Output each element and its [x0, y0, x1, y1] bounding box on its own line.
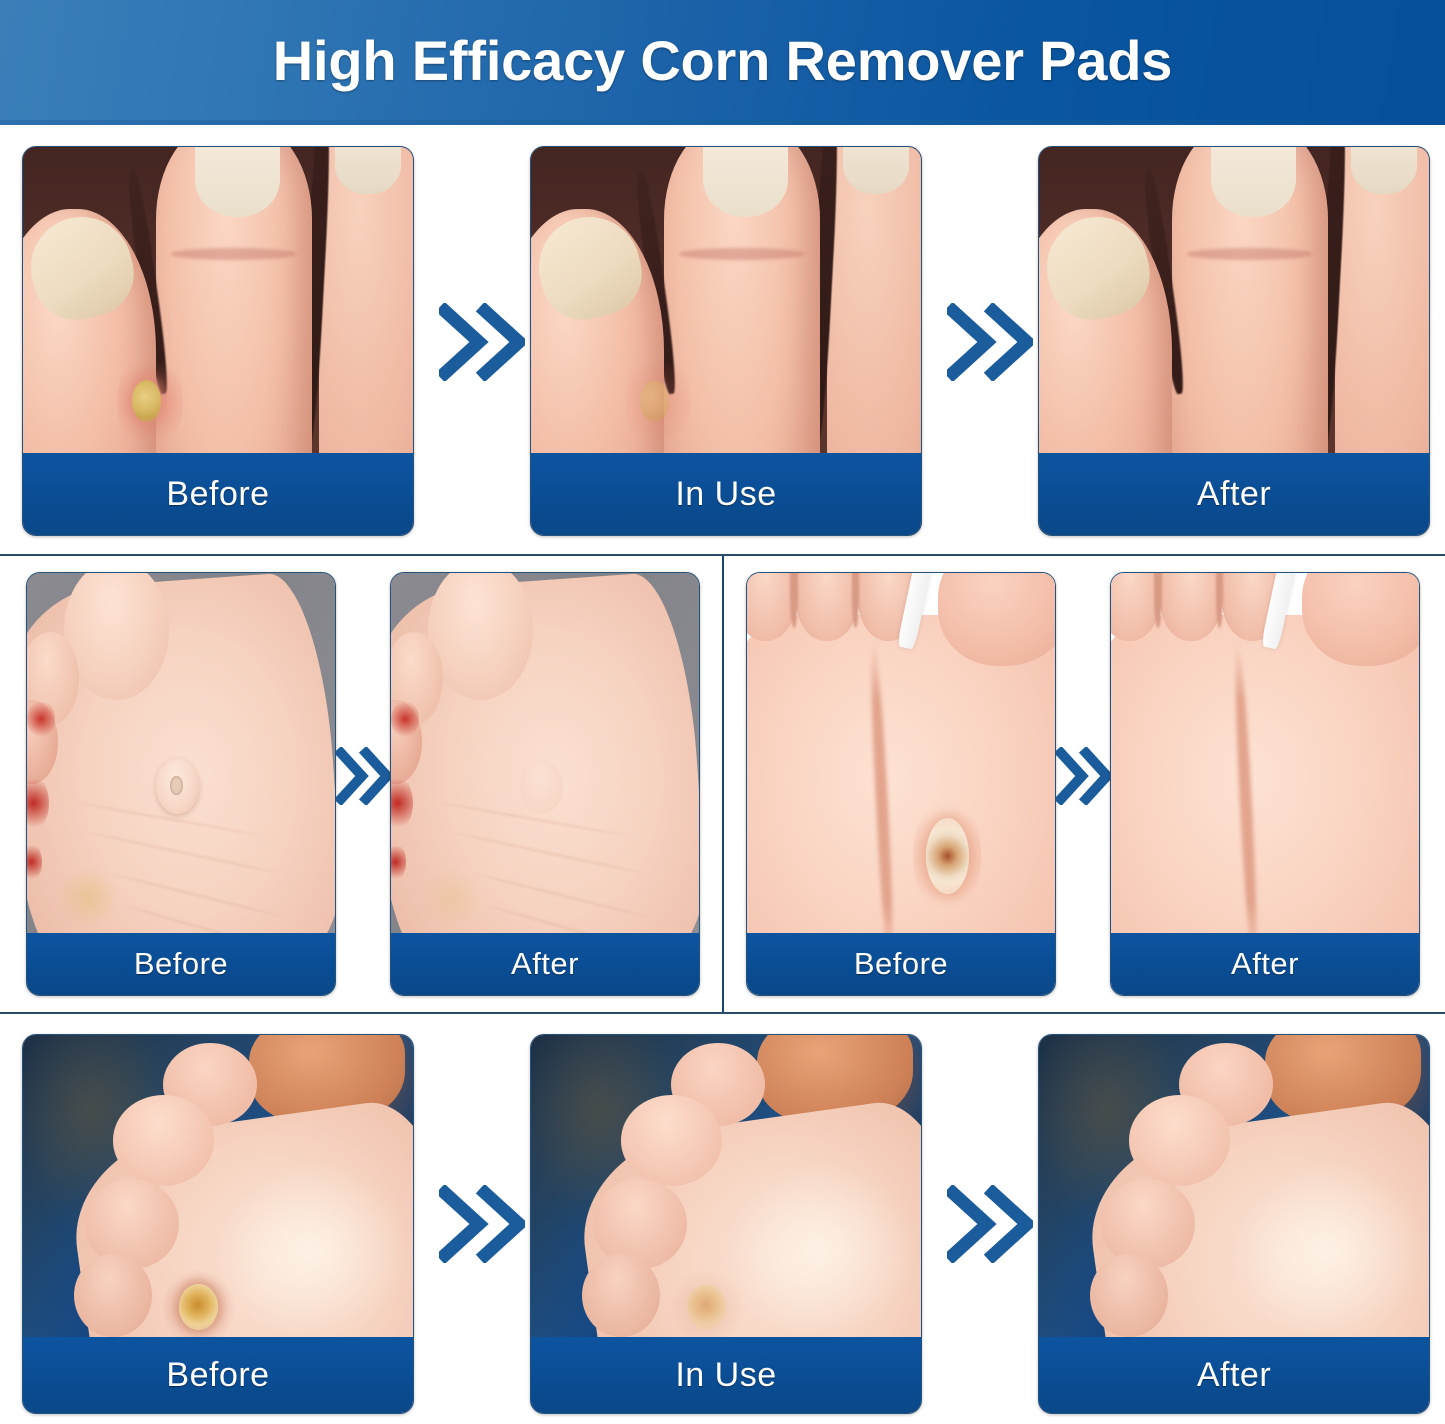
- row1-panel-inuse: In Use: [530, 146, 922, 536]
- row1-label-after: After: [1039, 453, 1429, 535]
- row2-right-photo-after: [1111, 573, 1419, 995]
- row2-right-arrow: [1056, 736, 1112, 816]
- row1-arrow-1: [438, 296, 526, 388]
- page-title: High Efficacy Corn Remover Pads: [273, 28, 1172, 93]
- row2-right-photo-before: [747, 573, 1055, 995]
- row3-label-inuse: In Use: [531, 1337, 921, 1413]
- row1-label-inuse: In Use: [531, 453, 921, 535]
- row3-label-after: After: [1039, 1337, 1429, 1413]
- row3-arrow-2: [946, 1178, 1034, 1270]
- row2-left-panel-after: After: [390, 572, 700, 996]
- row1-panel-before: Before: [22, 146, 414, 536]
- row-divider-2: [0, 1012, 1445, 1014]
- header-underline: [0, 120, 1445, 125]
- row2-right-label-after: After: [1111, 933, 1419, 995]
- product-infographic: High Efficacy Corn Remover Pads Before: [0, 0, 1445, 1424]
- row3-panel-before: Before: [22, 1034, 414, 1414]
- row2-left-photo-after: [391, 573, 699, 995]
- row2-left-label-after: After: [391, 933, 699, 995]
- header-banner: High Efficacy Corn Remover Pads: [0, 0, 1445, 120]
- row2-right-panel-after: After: [1110, 572, 1420, 996]
- row3-panel-inuse: In Use: [530, 1034, 922, 1414]
- row2-left-arrow: [336, 736, 392, 816]
- row1-arrow-2: [946, 296, 1034, 388]
- row3-arrow-1: [438, 1178, 526, 1270]
- column-divider: [722, 556, 724, 1012]
- row1-label-before: Before: [23, 453, 413, 535]
- row2-left-label-before: Before: [27, 933, 335, 995]
- row3-panel-after: After: [1038, 1034, 1430, 1414]
- row1-panel-after: After: [1038, 146, 1430, 536]
- row2-right-label-before: Before: [747, 933, 1055, 995]
- row2-left-panel-before: Before: [26, 572, 336, 996]
- row2-left-photo-before: [27, 573, 335, 995]
- row2-right-panel-before: Before: [746, 572, 1056, 996]
- row3-label-before: Before: [23, 1337, 413, 1413]
